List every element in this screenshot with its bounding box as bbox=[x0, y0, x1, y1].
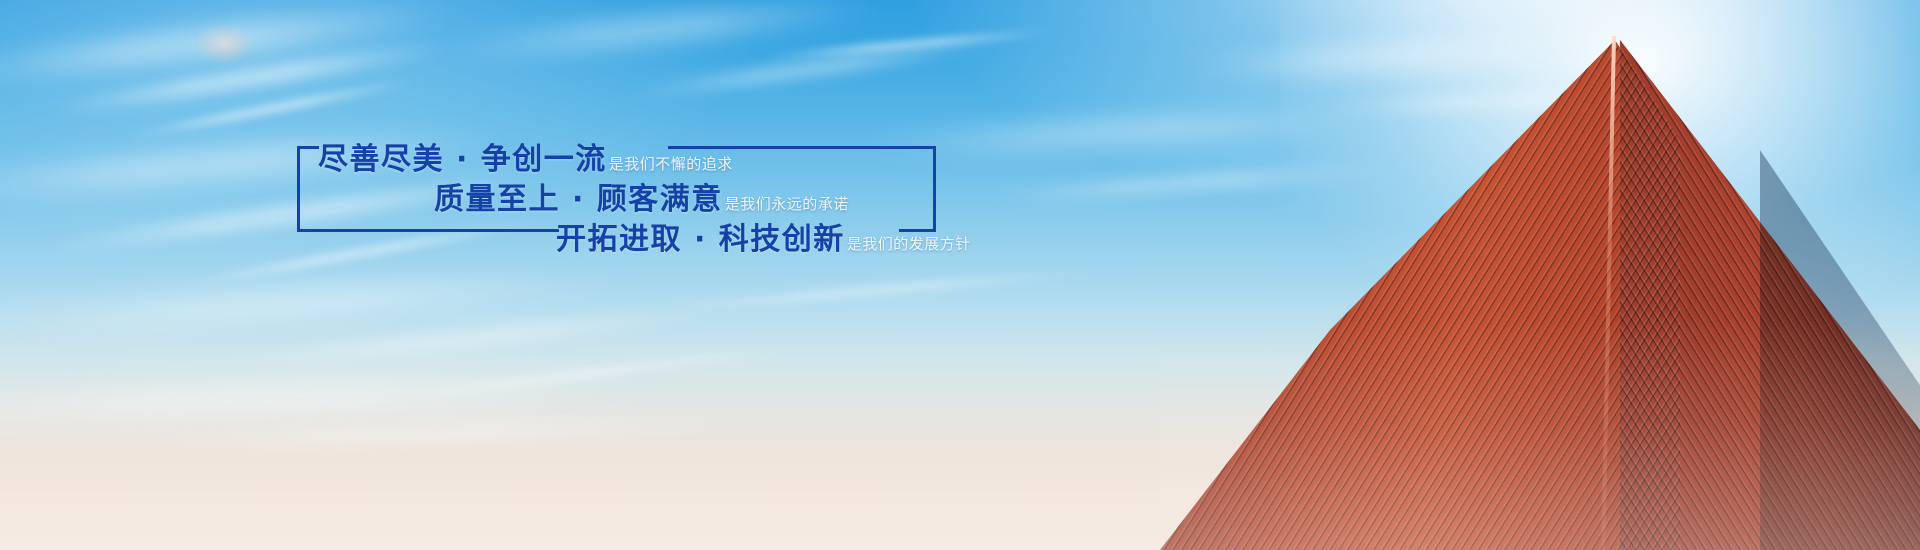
slogan-1-main: 尽善尽美 · 争创一流 bbox=[318, 134, 607, 178]
hero-banner: 尽善尽美 · 争创一流 是我们不懈的追求 质量至上 · 顾客满意 是我们永远的承… bbox=[0, 0, 1920, 550]
slogan-1-sub: 是我们不懈的追求 bbox=[609, 153, 733, 174]
slogan-2-main: 质量至上 · 顾客满意 bbox=[434, 174, 723, 218]
building-photo bbox=[1160, 0, 1920, 550]
slogan-3-sub: 是我们的发展方针 bbox=[847, 233, 971, 254]
slogan-line-2: 质量至上 · 顾客满意 是我们永远的承诺 bbox=[434, 174, 849, 218]
slogan-line-3: 开拓进取 · 科技创新 是我们的发展方针 bbox=[556, 214, 971, 258]
slogan-line-1: 尽善尽美 · 争创一流 是我们不懈的追求 bbox=[318, 134, 733, 178]
slogan-2-sub: 是我们永远的承诺 bbox=[725, 193, 849, 214]
slogan-3-main: 开拓进取 · 科技创新 bbox=[556, 214, 845, 258]
slogan-group: 尽善尽美 · 争创一流 是我们不懈的追求 质量至上 · 顾客满意 是我们永远的承… bbox=[0, 0, 1000, 300]
building-haze bbox=[1160, 320, 1920, 550]
